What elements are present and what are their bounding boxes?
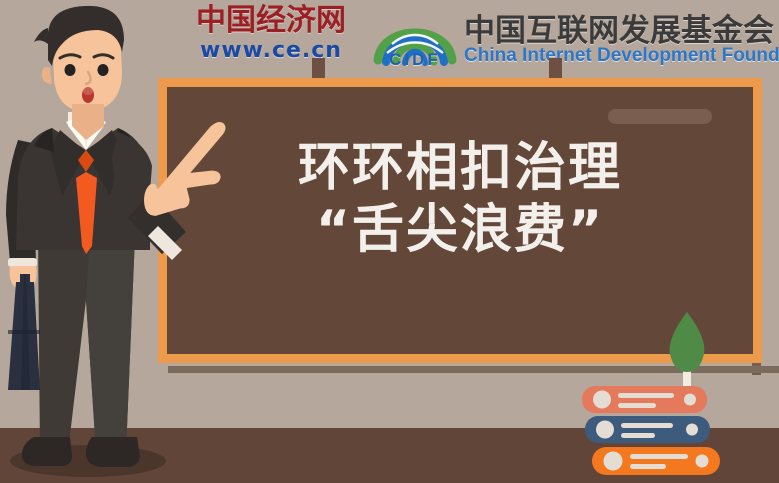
chalk-smudge-icon: [608, 109, 712, 124]
board-bracket-left: [312, 58, 325, 80]
cidf-english-label: China Internet Development Foundation: [464, 45, 779, 67]
board-bracket-right: [549, 58, 562, 80]
graphic-canvas: 中国经济网 www.ce.cn CIDF 中国互联网发展基金会 China In…: [0, 0, 779, 483]
potted-tree-icon: [664, 312, 710, 394]
cidf-chinese-label: 中国互联网发展基金会: [464, 5, 774, 50]
cidf-abbr-label: CIDF: [372, 50, 458, 70]
title-line-2: “舌尖浪费”: [167, 201, 753, 259]
page-title: 环环相扣治理 “舌尖浪费”: [167, 139, 753, 259]
title-line-1: 环环相扣治理: [167, 139, 753, 197]
businessman-illustration: [0, 0, 230, 483]
book-stack-illustration: [582, 386, 732, 483]
cidf-logo: CIDF 中国互联网发展基金会 China Internet Developme…: [372, 3, 778, 73]
